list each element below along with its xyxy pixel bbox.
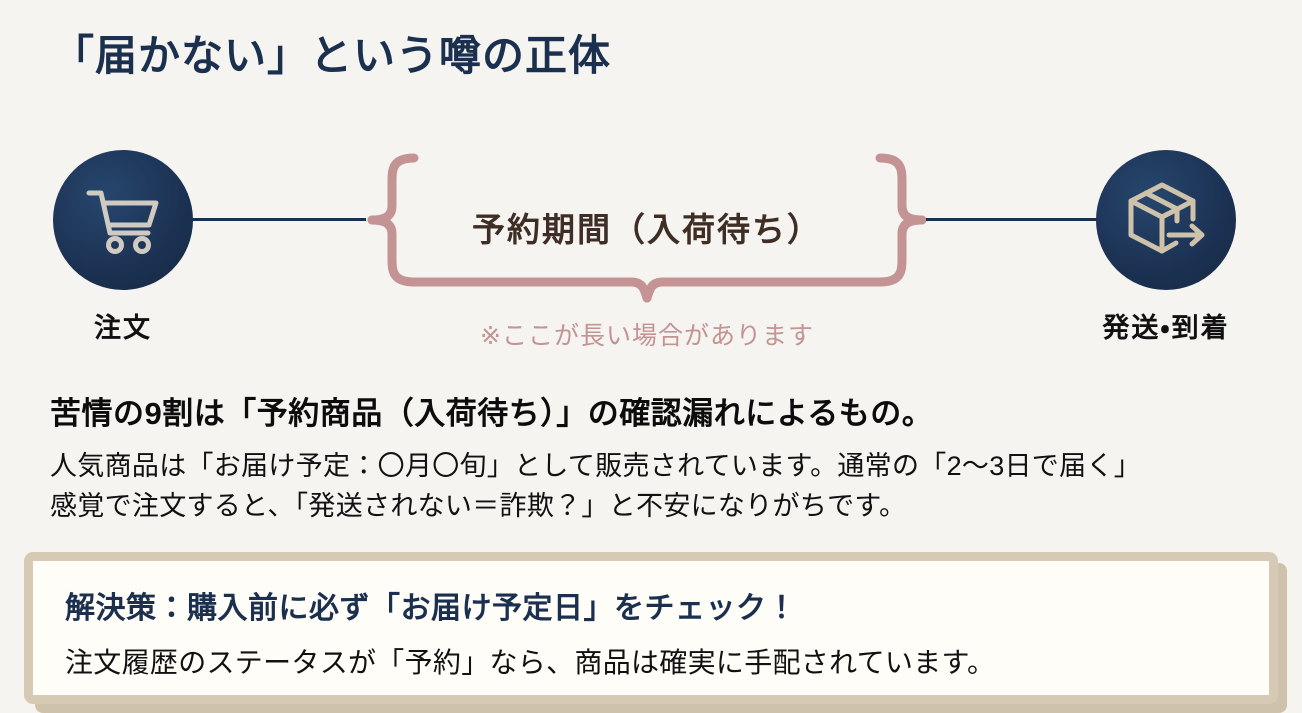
flow-node-shipping: 発送・到着	[1096, 150, 1236, 345]
page-title: 「届かない」という噂の正体	[52, 22, 611, 83]
delivery-flow-diagram: 注文 予約期間（入荷待ち） ※ここが長い場合があります	[0, 140, 1302, 355]
reservation-period-label: 予約期間（入荷待ち）	[366, 203, 928, 251]
solution-callout-box: 解決策：購入前に必ず「お届け予定日」をチェック！ 注文履歴のステータスが「予約」…	[24, 552, 1278, 704]
package-arrow-icon	[1124, 180, 1208, 260]
body-paragraph: 人気商品は「お届け予定：〇月〇旬」として販売されています。通常の「2〜3日で届く…	[50, 446, 1141, 526]
body-paragraph-line-2: 感覚で注文すると、「発送されない＝詐欺？」と不安になりがちです。	[50, 486, 1141, 526]
reservation-brace-group: 予約期間（入荷待ち） ※ここが長い場合があります	[366, 148, 928, 348]
order-node-label: 注文	[53, 306, 193, 345]
reservation-period-note: ※ここが長い場合があります	[366, 316, 928, 352]
shipping-circle	[1096, 150, 1236, 290]
lead-statement: 苦情の9割は「予約商品（入荷待ち）」の確認漏れによるもの。	[50, 388, 933, 433]
order-circle	[53, 150, 193, 290]
solution-detail: 注文履歴のステータスが「予約」なら、商品は確実に手配されています。	[65, 641, 1269, 681]
body-paragraph-line-1: 人気商品は「お届け予定：〇月〇旬」として販売されています。通常の「2〜3日で届く…	[50, 446, 1141, 486]
flow-node-order: 注文	[53, 150, 193, 345]
shipping-node-label: 発送・到着	[1096, 306, 1236, 345]
connector-line-right	[926, 218, 1098, 221]
infographic-canvas: 「届かない」という噂の正体 注文	[0, 0, 1302, 709]
shopping-cart-icon	[84, 184, 162, 256]
connector-line-left	[190, 218, 366, 221]
solution-heading: 解決策：購入前に必ず「お届け予定日」をチェック！	[65, 583, 1269, 627]
